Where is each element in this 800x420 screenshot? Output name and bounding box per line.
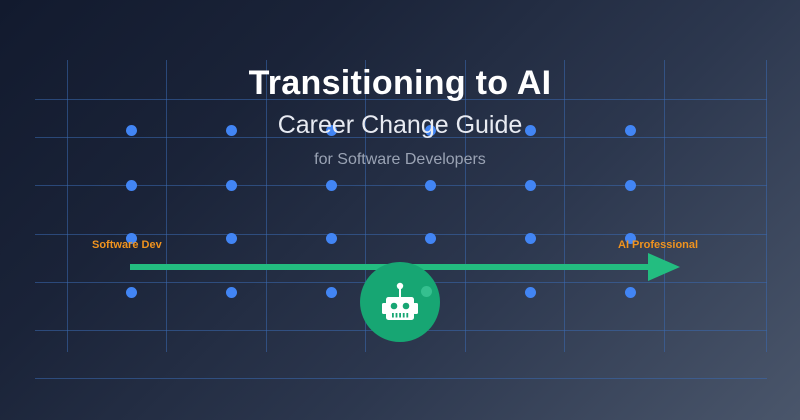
badge-highlight-dot	[421, 286, 432, 297]
grid-dot-1-4	[525, 180, 536, 191]
page-subtitle: Career Change Guide	[0, 108, 800, 142]
page-title: Transitioning to AI	[0, 62, 800, 104]
robot-icon	[381, 281, 419, 323]
grid-dot-2-3	[425, 233, 436, 244]
grid-hline-2	[35, 185, 767, 186]
grid-dot-3-1	[226, 287, 237, 298]
heading-block: Transitioning to AI Career Change Guide …	[0, 62, 800, 172]
grid-dot-1-1	[226, 180, 237, 191]
grid-dot-1-5	[625, 180, 636, 191]
grid-dot-1-2	[326, 180, 337, 191]
grid-hline-3	[35, 234, 767, 235]
grid-dot-2-2	[326, 233, 337, 244]
grid-dot-1-0	[126, 180, 137, 191]
grid-dot-3-0	[126, 287, 137, 298]
grid-dot-3-4	[525, 287, 536, 298]
page-tagline: for Software Developers	[0, 148, 800, 172]
robot-badge	[360, 262, 440, 342]
grid-dot-2-4	[525, 233, 536, 244]
poster-canvas: Transitioning to AI Career Change Guide …	[0, 0, 800, 420]
grid-dot-3-5	[625, 287, 636, 298]
grid-dot-2-1	[226, 233, 237, 244]
arrow-head-icon	[648, 253, 680, 281]
grid-hline-6	[35, 378, 767, 379]
grid-dot-3-2	[326, 287, 337, 298]
grid-dot-1-3	[425, 180, 436, 191]
